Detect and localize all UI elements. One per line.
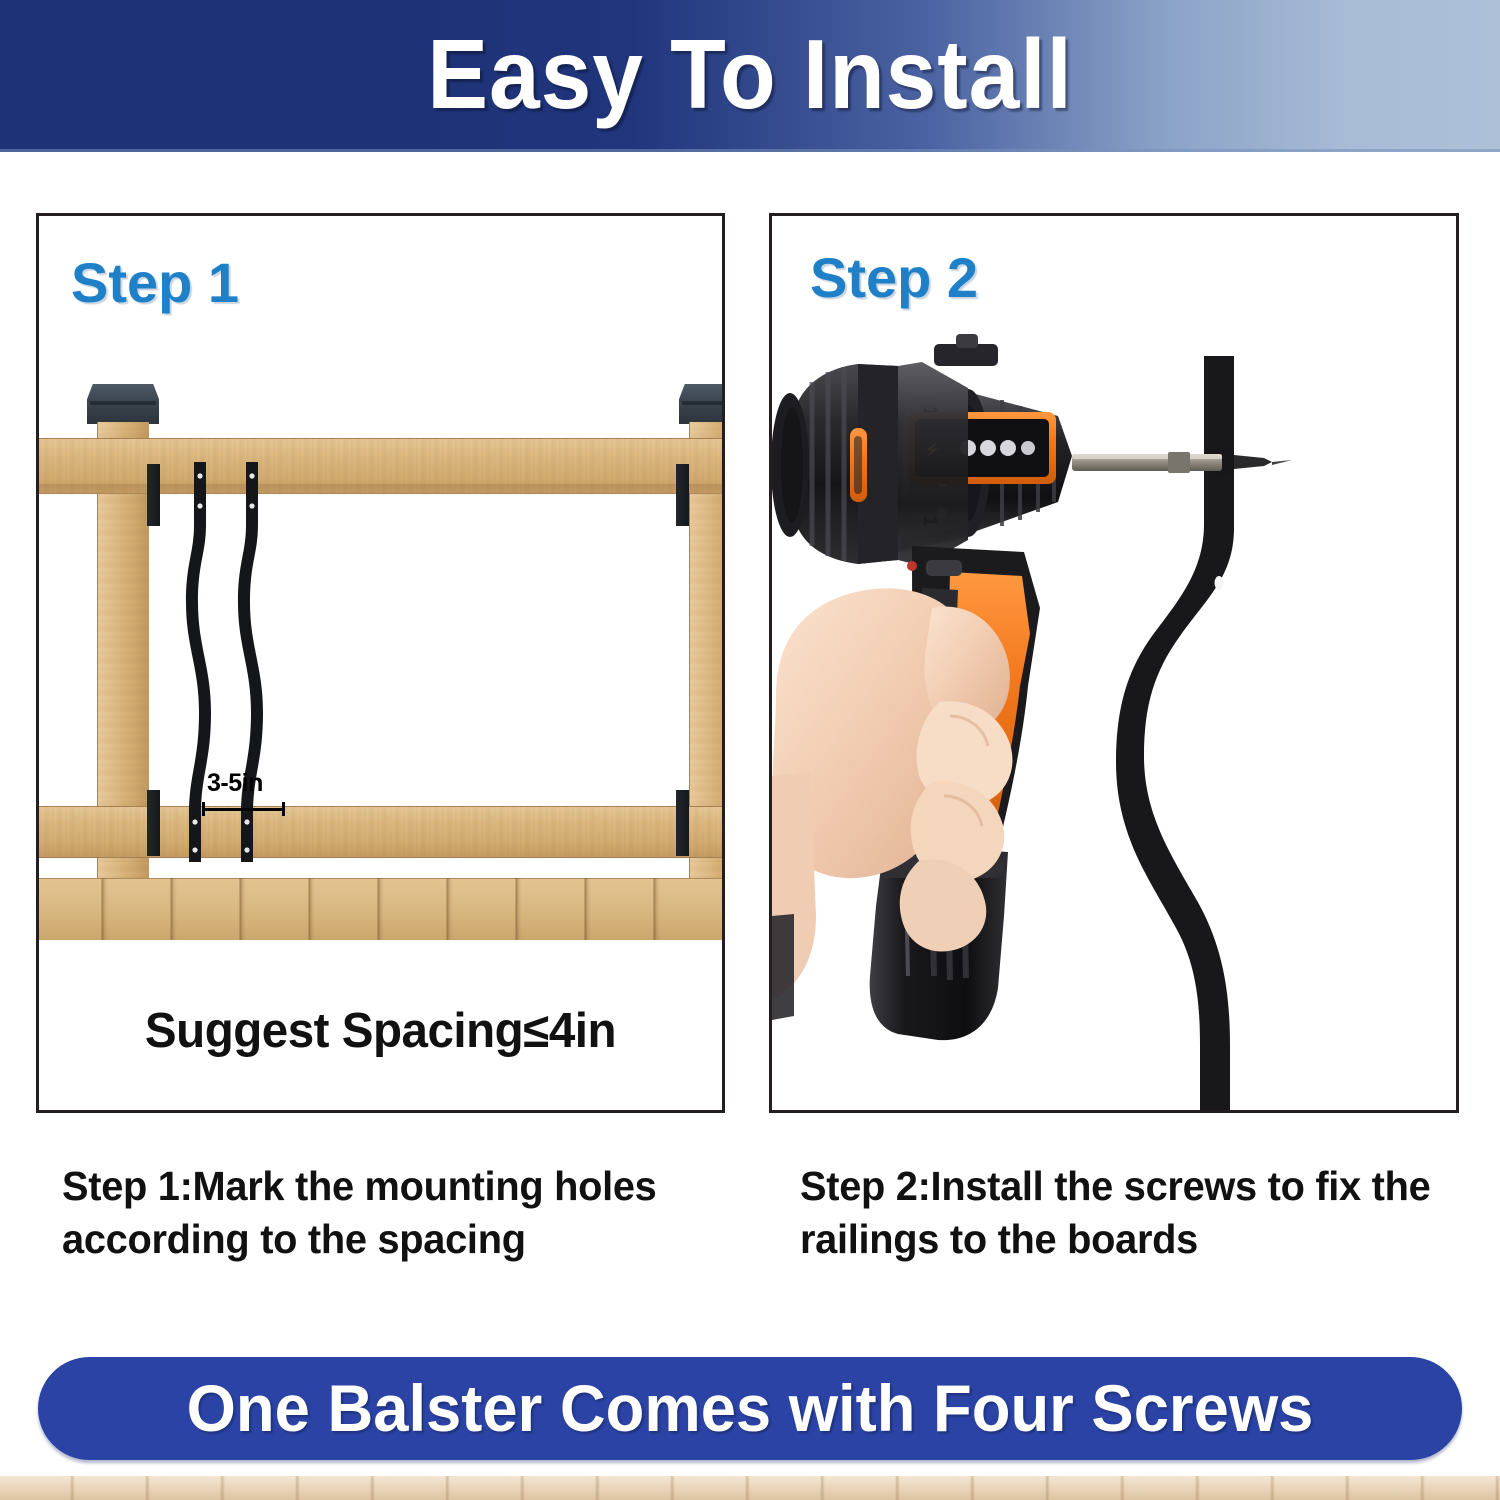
corner-bracket-top-left bbox=[147, 464, 160, 526]
drill-installation-illustration: 1 2 3 1 bbox=[772, 216, 1456, 1110]
bottom-banner-text: One Balster Comes with Four Screws bbox=[66, 1371, 1433, 1445]
dimension-bar-tick-left bbox=[202, 802, 205, 816]
rear-accent-slot bbox=[854, 436, 862, 494]
dimension-bar-icon bbox=[202, 802, 285, 815]
dimension-bar-line bbox=[202, 808, 285, 811]
sleeve-edge bbox=[772, 914, 794, 1020]
header-banner: Easy To Install bbox=[0, 0, 1500, 152]
corner-bracket-bottom-left bbox=[147, 790, 160, 856]
baluster-screw-hole bbox=[1215, 576, 1224, 590]
step-1-label: Step 1 bbox=[71, 253, 239, 313]
drill-mode-switch bbox=[934, 334, 998, 366]
drill-motor-housing bbox=[898, 362, 968, 566]
power-indicator-light bbox=[907, 561, 917, 571]
step-2-panel: Step 2 bbox=[769, 213, 1459, 1113]
step-1-panel: Step 1 bbox=[36, 213, 725, 1113]
drill-body bbox=[772, 364, 898, 564]
header-divider bbox=[0, 149, 1500, 152]
step-1-caption: Step 1:Mark the mounting holes according… bbox=[62, 1160, 702, 1266]
post-cap-left-icon bbox=[87, 384, 159, 424]
corner-bracket-bottom-right bbox=[676, 790, 689, 856]
deck-floor-boards bbox=[39, 878, 722, 940]
step-2-caption: Step 2:Install the screws to fix the rai… bbox=[800, 1160, 1450, 1266]
post-cap-right-icon bbox=[679, 384, 725, 424]
suggest-spacing-text: Suggest Spacing≤4in bbox=[49, 1004, 712, 1058]
driver-bit-icon bbox=[1072, 452, 1222, 473]
corner-bracket-top-right bbox=[676, 464, 689, 526]
direction-selector[interactable] bbox=[926, 560, 962, 576]
page-title: Easy To Install bbox=[53, 22, 1448, 126]
bottom-rail-board bbox=[39, 806, 722, 858]
bottom-wood-strip bbox=[0, 1476, 1500, 1500]
infographic-page: Easy To Install Step 1 bbox=[0, 0, 1500, 1500]
dimension-bar-tick-right bbox=[282, 802, 285, 816]
top-rail-shadow bbox=[39, 484, 722, 494]
deck-railing-illustration: 3-5in bbox=[39, 366, 722, 976]
dimension-label: 3-5in bbox=[207, 770, 263, 797]
bottom-banner: One Balster Comes with Four Screws bbox=[38, 1357, 1462, 1460]
